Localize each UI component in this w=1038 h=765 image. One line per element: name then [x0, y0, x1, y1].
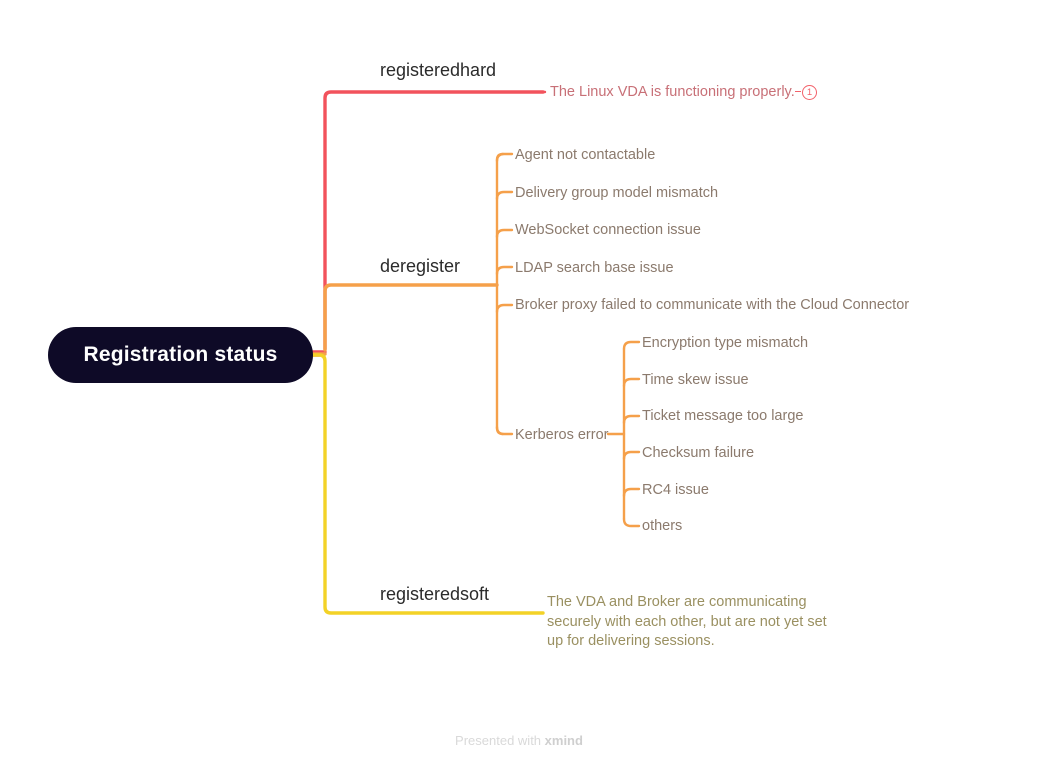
leaf-time-skew-issue[interactable]: Time skew issue — [642, 373, 749, 388]
leaf-encryption-type-mismatch[interactable]: Encryption type mismatch — [642, 336, 808, 351]
leaf-checksum-failure[interactable]: Checksum failure — [642, 446, 754, 461]
wire-deregister-child-4 — [497, 267, 512, 274]
wire-kerberos-child-4 — [624, 452, 639, 459]
status-badge-1[interactable]: 1 — [802, 85, 817, 100]
leaf-rc4-issue[interactable]: RC4 issue — [642, 483, 709, 498]
wire-root-to-registeredhard — [313, 92, 543, 355]
wire-kerberos-child-1 — [624, 342, 639, 349]
node-kerberos-error[interactable]: Kerberos error — [515, 428, 608, 443]
badge-stem — [795, 91, 801, 92]
wire-deregister-child-3 — [497, 230, 512, 237]
wire-kerberos-child-3 — [624, 416, 639, 423]
wire-deregister-child-2 — [497, 192, 512, 199]
wire-root-to-deregister — [325, 285, 497, 350]
leaf-delivery-group-model-mismatch[interactable]: Delivery group model mismatch — [515, 186, 718, 201]
wire-deregister-child-5 — [497, 305, 512, 312]
wire-root-to-registeredsoft — [313, 355, 543, 613]
wire-deregister-spine — [497, 154, 503, 434]
branch-label-registeredsoft[interactable]: registeredsoft — [380, 585, 489, 603]
footer-prefix: Presented with — [455, 733, 545, 748]
wire-kerberos-child-6 — [624, 519, 639, 526]
root-node[interactable]: Registration status — [48, 327, 313, 383]
leaf-ldap-search-base-issue[interactable]: LDAP search base issue — [515, 261, 674, 276]
wire-kerberos-child-5 — [624, 489, 639, 496]
root-node-label: Registration status — [84, 343, 278, 367]
footer-attribution: Presented with xmind — [0, 733, 1038, 748]
leaf-agent-not-contactable[interactable]: Agent not contactable — [515, 148, 655, 163]
leaf-vda-broker-communicating[interactable]: The VDA and Broker are communicating sec… — [547, 593, 837, 652]
leaf-linux-vda-functioning[interactable]: The Linux VDA is functioning properly. — [550, 85, 795, 100]
footer-brand: xmind — [545, 733, 583, 748]
leaf-others[interactable]: others — [642, 519, 682, 534]
branch-label-deregister[interactable]: deregister — [380, 257, 460, 275]
leaf-ticket-message-too-large[interactable]: Ticket message too large — [642, 409, 803, 424]
wire-kerberos-child-2 — [624, 379, 639, 386]
branch-label-registeredhard[interactable]: registeredhard — [380, 61, 496, 79]
wire-deregister-child-1 — [497, 154, 512, 161]
leaf-broker-proxy-failed[interactable]: Broker proxy failed to communicate with … — [515, 298, 909, 313]
leaf-websocket-connection-issue[interactable]: WebSocket connection issue — [515, 223, 701, 238]
mindmap-canvas: Registration status registeredhard dereg… — [0, 0, 1038, 765]
wire-deregister-child-6 — [497, 427, 512, 434]
